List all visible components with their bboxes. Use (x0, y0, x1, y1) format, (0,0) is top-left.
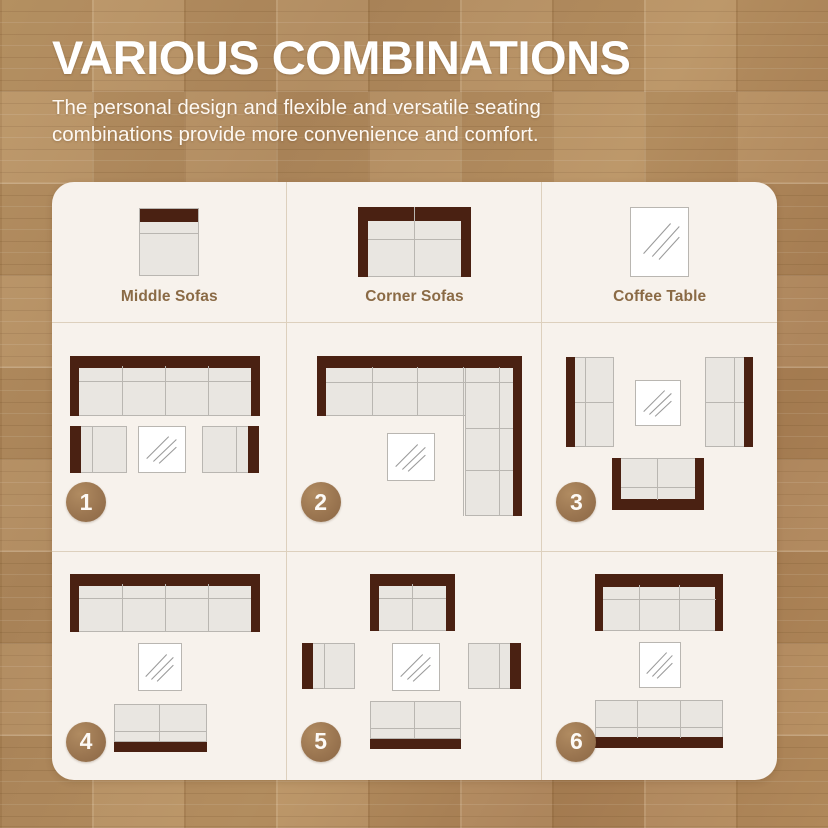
combinations-grid: Middle Sofas Corner Sofas (52, 182, 777, 780)
sofa-two-seat-left (566, 357, 614, 447)
sofa-four-seat-top (70, 356, 260, 416)
combination-5: 5 (287, 552, 543, 781)
combination-number-badge: 5 (301, 722, 341, 762)
legend-item-middle-sofas: Middle Sofas (52, 182, 287, 323)
sofa-two-seat-bottom (370, 701, 461, 749)
middle-sofa-icon (139, 205, 199, 279)
legend-label: Middle Sofas (121, 288, 218, 306)
poster-canvas: VARIOUS COMBINATIONS The personal design… (0, 0, 828, 828)
sofa-two-seat-bottom (612, 458, 704, 510)
combination-number-badge: 1 (66, 482, 106, 522)
sofa-two-seat-right (705, 357, 753, 447)
sofa-three-seat-bottom (595, 700, 723, 748)
combination-3: 3 (542, 323, 777, 552)
legend-item-corner-sofas: Corner Sofas (287, 182, 543, 323)
combination-2: 2 (287, 323, 543, 552)
sofa-three-seat-top (595, 574, 723, 631)
combination-number-badge: 2 (301, 482, 341, 522)
sofa-two-seat-right (202, 426, 259, 473)
sofa-four-seat-top (70, 574, 260, 632)
sofa-two-seat-left (70, 426, 127, 473)
combination-number-badge: 6 (556, 722, 596, 762)
sofa-single-left (302, 643, 355, 689)
combinations-panel: Middle Sofas Corner Sofas (52, 182, 777, 780)
combination-1: 1 (52, 323, 287, 552)
legend-label: Corner Sofas (365, 288, 464, 306)
coffee-table (392, 643, 440, 691)
legend-item-coffee-table: Coffee Table (542, 182, 777, 323)
page-title: VARIOUS COMBINATIONS (52, 34, 752, 83)
header: VARIOUS COMBINATIONS The personal design… (52, 34, 752, 148)
coffee-table (635, 380, 681, 426)
sofa-single-right (468, 643, 521, 689)
coffee-table (138, 426, 186, 473)
legend-label: Coffee Table (613, 288, 706, 306)
corner-sofa-icon (358, 205, 471, 279)
combination-number-badge: 4 (66, 722, 106, 762)
combination-6: 6 (542, 552, 777, 781)
coffee-table-icon (630, 205, 689, 279)
sofa-two-seat-bottom (114, 704, 207, 752)
coffee-table (639, 642, 681, 688)
combination-number-badge: 3 (556, 482, 596, 522)
combination-4: 4 (52, 552, 287, 781)
coffee-table (387, 433, 435, 481)
page-subtitle: The personal design and flexible and ver… (52, 94, 662, 148)
coffee-table (138, 643, 182, 691)
sofa-two-seat-top (370, 574, 455, 631)
